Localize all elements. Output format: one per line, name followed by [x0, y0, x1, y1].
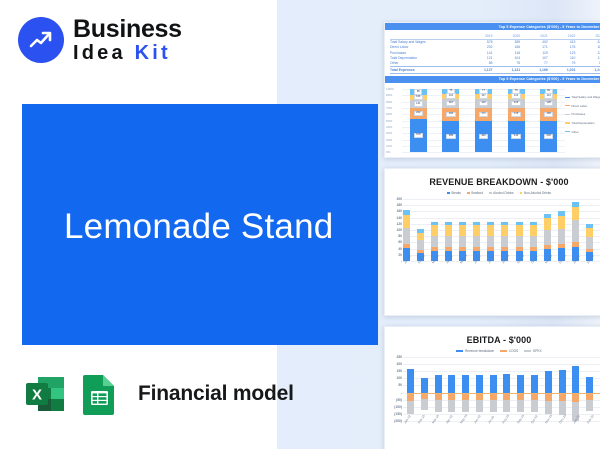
page-title: Lemonade Stand [64, 207, 333, 247]
y-axis-tick: 200 [396, 362, 402, 366]
legend-item[interactable]: Steaks [447, 191, 461, 195]
data-label: 183 [544, 112, 554, 117]
y-axis-tick: (200) [394, 419, 402, 423]
bar-segment: 128 [540, 99, 557, 108]
bar-segment-opex [490, 400, 497, 412]
microsoft-excel-icon: X [22, 371, 68, 417]
y-axis-tick: 90% [386, 93, 392, 97]
bar-segment-cogs [490, 393, 497, 400]
legend-swatch [500, 350, 507, 352]
ebitda-bar [462, 357, 469, 422]
legend-label: Alcohol Drinks [493, 191, 513, 195]
revenue-chart-y-axis: -20406080100120140160180200 [389, 199, 403, 261]
bar-segment-opex [421, 399, 428, 410]
format-row: X Financial model [22, 371, 294, 417]
bar-segment-opex [503, 400, 510, 412]
bar-segment-opex [435, 400, 442, 412]
bar-segment [544, 230, 551, 245]
ebitda-chart-y-axis: 25020015010050-(50)(100)(150)(200) [389, 357, 403, 421]
revenue-chart-bars [403, 199, 600, 261]
ebitda-bar [503, 357, 510, 422]
legend-item[interactable]: Alcohol Drinks [489, 191, 514, 195]
legend-label: COGS [509, 349, 518, 353]
bar-segment: 176 [508, 108, 525, 121]
expense-table-title: Top 5 Expense Categories ($'000) - 5 Yea… [385, 23, 600, 30]
x-axis-tick: 2019 [415, 156, 422, 158]
bar-segment [403, 228, 410, 244]
expense-chart-x-axis: 20192020202120222023 [402, 156, 565, 158]
bar-segment-revenue [531, 375, 538, 393]
bar-segment [544, 218, 551, 230]
legend-item[interactable]: Seafood [467, 191, 483, 195]
revenue-chart-legend: SteaksSeafoodAlcohol DrinksNon-Alcohol D… [385, 191, 600, 195]
stacked-bar: 79110123176413 [508, 89, 525, 152]
bar-segment [501, 225, 508, 235]
brand-word-idea: Idea [73, 42, 126, 64]
brand-line-business: Business [73, 17, 182, 42]
legend-swatch [565, 105, 570, 106]
legend-item[interactable]: Revenue breakdown [456, 349, 494, 353]
bar-segment: 166 [442, 108, 459, 121]
bar-segment-revenue [586, 377, 593, 394]
bar-segment-cogs [545, 393, 552, 401]
bar-segment-revenue [572, 366, 579, 393]
bar-segment: 413 [508, 121, 525, 152]
bar-segment-revenue [435, 375, 442, 393]
stacked-bar [403, 199, 410, 261]
gridline [402, 152, 565, 153]
y-axis-tick: 100 [396, 376, 402, 380]
y-axis-tick: (100) [394, 405, 402, 409]
bar-segment-cogs [503, 393, 510, 400]
ebitda-card[interactable]: EBITDA - $'000 Revenue breakdownCOGSOPEX… [384, 326, 600, 449]
hero-banner: Lemonade Stand [22, 104, 378, 345]
bar-segment-revenue [517, 375, 524, 393]
bar-segment-revenue [490, 375, 497, 393]
row-label: Total Expenses [390, 67, 469, 73]
bar-segment-revenue [448, 375, 455, 393]
stacked-bar: 82114128183429 [540, 89, 557, 152]
data-label: 429 [544, 134, 554, 139]
ebitda-bar [407, 357, 414, 422]
y-axis-tick: 160 [396, 209, 402, 213]
ebitda-bar [531, 357, 538, 422]
bar-segment-revenue [462, 375, 469, 393]
bar-segment-cogs [572, 393, 579, 402]
legend-label: Direct Labor [572, 104, 588, 108]
y-axis-tick: 10% [386, 144, 392, 148]
legend-label: OPEX [533, 349, 542, 353]
bar-segment-opex [407, 401, 414, 415]
y-axis-tick: 50% [386, 119, 392, 123]
bar-segment [487, 225, 494, 235]
brand-logo: Business Idea Kit [18, 16, 182, 63]
y-axis-tick: - [401, 391, 402, 395]
table-cell: 1,127 [469, 67, 497, 73]
bar-segment [516, 225, 523, 235]
bar-segment-opex [545, 401, 552, 415]
table-cell: 1,201 [552, 67, 580, 73]
stacked-bar [586, 199, 593, 261]
x-axis-tick: 2022 [513, 156, 520, 158]
y-axis-tick: 140 [396, 216, 402, 220]
legend-item[interactable]: Other [565, 130, 600, 134]
bar-segment [586, 237, 593, 248]
y-axis-tick: 50 [398, 383, 402, 387]
ebitda-bar [435, 357, 442, 422]
bar-segment [459, 225, 466, 235]
ebitda-bar [586, 357, 593, 422]
y-axis-tick: 150 [396, 369, 402, 373]
y-axis-tick: 120 [396, 222, 402, 226]
legend-swatch [447, 192, 450, 195]
expense-table-wrap: 20192020202120222023Total Salary and Wag… [385, 30, 600, 75]
legend-swatch [467, 192, 470, 195]
y-axis-tick: 40% [386, 125, 392, 129]
bar-segment [572, 220, 579, 242]
data-label: 166 [446, 112, 456, 117]
legend-label: Other [572, 130, 579, 134]
ebitda-chart-bars [407, 357, 600, 422]
bar-segment [501, 236, 508, 248]
bar-segment-opex [559, 401, 566, 415]
bar-segment: 141 [410, 100, 427, 108]
legend-swatch [524, 350, 531, 352]
table-cell: 1,166 [524, 67, 552, 73]
stacked-bar [530, 199, 537, 261]
stacked-bar [459, 199, 466, 261]
revenue-chart-title: REVENUE BREAKDOWN - $'000 [385, 177, 600, 187]
stacked-bar [431, 199, 438, 261]
y-axis-tick: 60 [398, 240, 402, 244]
legend-item[interactable]: Non-Alcohol Drinks [520, 191, 551, 195]
ebitda-bar [572, 357, 579, 422]
legend-label: Purchases [572, 112, 586, 116]
bar-segment: 389 [442, 121, 459, 152]
ebitda-bar [559, 357, 566, 422]
y-axis-tick: 250 [396, 355, 402, 359]
bar-segment [431, 225, 438, 235]
revenue-chart-plot: -20406080100120140160180200 Jan-19Feb-19… [389, 199, 600, 279]
table-cell: 1,245 [579, 67, 600, 73]
bar-segment-cogs [517, 393, 524, 400]
x-axis-tick: 2021 [480, 156, 487, 158]
table-cell: 1,131 [496, 67, 524, 73]
bar-segment-revenue [421, 378, 428, 393]
data-label: 128 [544, 101, 554, 106]
y-axis-tick: 80 [398, 234, 402, 238]
y-axis-tick: (50) [396, 398, 402, 402]
data-label: 171 [479, 112, 489, 117]
legend-label: Non-Alcohol Drinks [524, 191, 551, 195]
y-axis-tick: 180 [396, 203, 402, 207]
ebitda-bar [421, 357, 428, 422]
expense-stacked-chart: 0%10%20%30%40%50%60%70%80%90%100% 851211… [385, 83, 600, 158]
ebitda-bar [448, 357, 455, 422]
y-axis-tick: 20% [386, 138, 392, 142]
bar-segment: 123 [508, 99, 525, 108]
bar-segment [530, 225, 537, 235]
stacked-bar: 85121141202578 [410, 89, 427, 152]
bar-segment [487, 236, 494, 248]
legend-label: Total Salary and Wages [572, 95, 600, 99]
y-axis-tick: 80% [386, 100, 392, 104]
bar-segment [558, 229, 565, 244]
bar-segment [572, 207, 579, 220]
bar-segment [417, 240, 424, 250]
bar-segment: 171 [475, 108, 492, 121]
brand-wordmark: Business Idea Kit [73, 16, 182, 63]
google-sheets-icon [80, 371, 120, 417]
bar-segment-cogs [448, 393, 455, 400]
legend-swatch [565, 97, 570, 98]
data-label: 578 [414, 133, 424, 138]
legend-item[interactable]: Direct Labor [565, 104, 600, 108]
y-axis-tick: 200 [396, 197, 402, 201]
legend-swatch [565, 131, 570, 132]
x-axis-tick: 2023 [545, 156, 552, 158]
x-axis-tick: 2020 [448, 156, 455, 158]
ebitda-bar [517, 357, 524, 422]
y-axis-tick: 30% [386, 131, 392, 135]
bar-segment-opex [448, 400, 455, 412]
y-axis-tick: 0% [386, 150, 390, 154]
bar-segment-opex [476, 400, 483, 412]
bar-segment: 116 [442, 99, 459, 108]
bar-segment-opex [531, 400, 538, 412]
bar-segment-cogs [586, 393, 593, 400]
legend-item[interactable]: COGS [500, 349, 518, 353]
ebitda-zero-line [407, 393, 600, 394]
bar-segment-revenue [559, 370, 566, 393]
bar-segment: 183 [540, 108, 557, 121]
data-label: 402 [479, 134, 489, 139]
ebitda-chart-plot: 25020015010050-(50)(100)(150)(200) Jan-1… [389, 357, 600, 439]
brand-line-idea-kit: Idea Kit [73, 43, 182, 63]
legend-item[interactable]: Purchases [565, 112, 600, 116]
stacked-bar [445, 199, 452, 261]
legend-swatch [565, 122, 570, 123]
bar-segment [473, 225, 480, 235]
ebitda-chart-legend: Revenue breakdownCOGSOPEX [385, 349, 600, 353]
stacked-bar [516, 199, 523, 261]
stacked-bar [558, 199, 565, 261]
ebitda-bar [476, 357, 483, 422]
brand-word-kit: Kit [135, 42, 171, 64]
y-axis-tick: 70% [386, 106, 392, 110]
y-axis-tick: (150) [394, 412, 402, 416]
stacked-bar [487, 199, 494, 261]
bar-segment [530, 236, 537, 248]
bar-segment-revenue [407, 369, 414, 393]
data-label: 119 [479, 101, 488, 106]
bar-segment [473, 236, 480, 248]
legend-item[interactable]: OPEX [524, 349, 541, 353]
y-axis-tick: 20 [398, 253, 402, 257]
revenue-chart-x-axis: Jan-19Feb-19Mar-19Apr-19May-19Jun-19Jul-… [403, 261, 600, 279]
bar-segment-revenue [476, 375, 483, 393]
ebitda-chart-title: EBITDA - $'000 [385, 335, 600, 345]
bar-segment [516, 236, 523, 248]
bar-segment: 402 [475, 121, 492, 152]
expense-categories-card[interactable]: Top 5 Expense Categories ($'000) - 5 Yea… [384, 22, 600, 158]
bar-segment: 429 [540, 121, 557, 152]
stacked-bar: 75104116166389 [442, 89, 459, 152]
bar-segment [417, 233, 424, 240]
ebitda-bar [490, 357, 497, 422]
bar-segment: 119 [475, 99, 492, 108]
bar-segment [586, 228, 593, 237]
bar-segment [431, 236, 438, 248]
data-label: 116 [446, 101, 455, 106]
bar-segment-opex [462, 400, 469, 412]
svg-text:X: X [32, 387, 42, 404]
legend-swatch [520, 192, 523, 195]
bar-segment-cogs [559, 393, 566, 401]
stacked-bar [417, 199, 424, 261]
y-axis-tick: 100 [396, 228, 402, 232]
bar-segment: 578 [410, 119, 427, 152]
bar-segment [558, 216, 565, 228]
expense-chart-bars: 8512114120257875104116166389771071191714… [402, 89, 565, 152]
legend-swatch [565, 114, 570, 115]
data-label: 176 [511, 112, 521, 117]
expense-chart-title: Top 5 Expense Categories ($'000) - 5 Yea… [385, 76, 600, 83]
data-label: 413 [511, 134, 521, 139]
legend-label: Seafood [471, 191, 483, 195]
stacked-bar: 77107119171402 [475, 89, 492, 152]
bar-segment-opex [517, 400, 524, 412]
legend-swatch [456, 350, 463, 352]
stacked-bar [473, 199, 480, 261]
ebitda-chart-x-axis: Jan-19Feb-19Mar-19Apr-19May-19Jun-19Jul-… [403, 421, 600, 439]
expense-table: 20192020202120222023Total Salary and Wag… [390, 33, 600, 73]
legend-label: Revenue breakdown [465, 349, 494, 353]
ebitda-bar [545, 357, 552, 422]
bar-segment-cogs [435, 393, 442, 400]
y-axis-tick: 40 [398, 247, 402, 251]
y-axis-tick: 60% [386, 112, 392, 116]
legend-item[interactable]: Total Depreciation [565, 121, 600, 125]
stacked-bar [544, 199, 551, 261]
data-label: 202 [414, 111, 424, 116]
bar-segment [445, 225, 452, 235]
legend-item[interactable]: Total Salary and Wages [565, 95, 600, 99]
stacked-bar [501, 199, 508, 261]
bar-segment-cogs [462, 393, 469, 400]
data-label: 123 [511, 101, 521, 106]
table-total-row: Total Expenses1,1271,1311,1661,2011,245 [390, 67, 600, 73]
y-axis-tick: - [401, 259, 402, 263]
financial-model-label: Financial model [138, 382, 294, 406]
revenue-breakdown-card[interactable]: REVENUE BREAKDOWN - $'000 SteaksSeafoodA… [384, 168, 600, 316]
bar-segment: 202 [410, 108, 427, 119]
bar-segment [445, 236, 452, 248]
bar-segment-cogs [531, 393, 538, 400]
trending-up-arrow-icon [18, 17, 64, 63]
bar-segment-cogs [407, 393, 414, 401]
data-label: 141 [414, 101, 424, 106]
bar-segment [403, 215, 410, 228]
y-axis-tick: 100% [386, 87, 394, 91]
legend-swatch [489, 192, 492, 195]
legend-label: Steaks [451, 191, 461, 195]
bar-segment [459, 236, 466, 248]
bar-segment-revenue [503, 374, 510, 393]
legend-label: Total Depreciation [572, 121, 595, 125]
expense-chart-legend: Total Salary and WagesDirect LaborPurcha… [565, 95, 600, 138]
bar-segment-cogs [476, 393, 483, 400]
stacked-bar [572, 199, 579, 261]
bar-segment-opex [586, 400, 593, 412]
bar-segment-revenue [545, 371, 552, 393]
data-label: 389 [446, 134, 456, 139]
